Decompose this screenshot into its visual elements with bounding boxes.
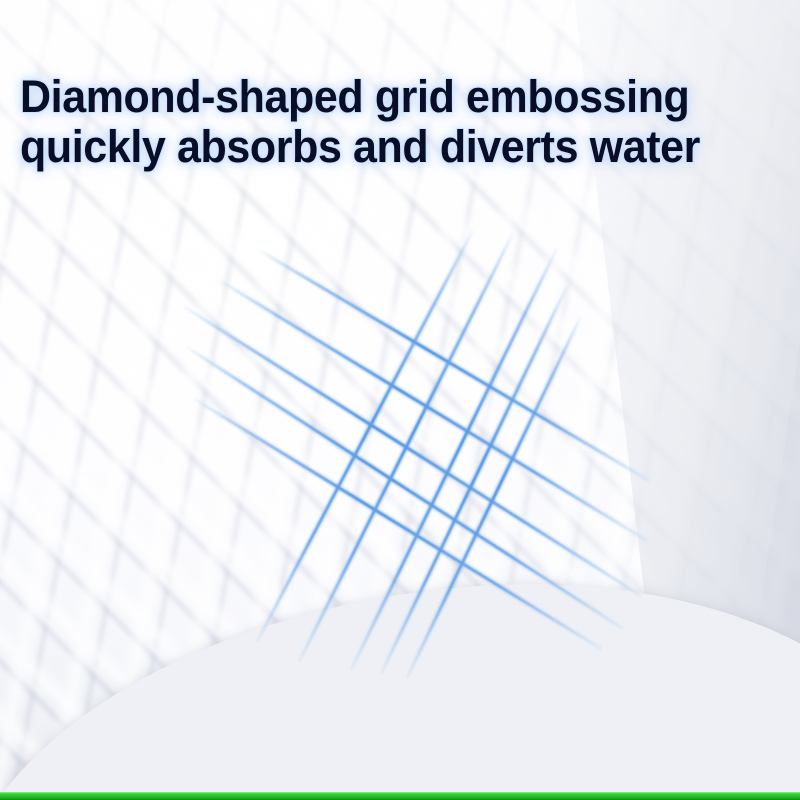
green-accent-bar — [0, 792, 800, 800]
headline-line-1: Diamond-shaped grid embossing — [20, 72, 755, 122]
product-image-canvas: Diamond-shaped grid embossing quickly ab… — [0, 0, 800, 800]
grid-line-ascending-2 — [300, 235, 512, 660]
grid-line-descending-1 — [262, 252, 648, 480]
grid-line-descending-5 — [196, 400, 600, 648]
grid-line-ascending-1 — [258, 232, 472, 640]
headline: Diamond-shaped grid embossing quickly ab… — [20, 72, 755, 172]
descending-grid-lines — [186, 252, 648, 648]
headline-line-2: quickly absorbs and diverts water — [20, 122, 755, 172]
